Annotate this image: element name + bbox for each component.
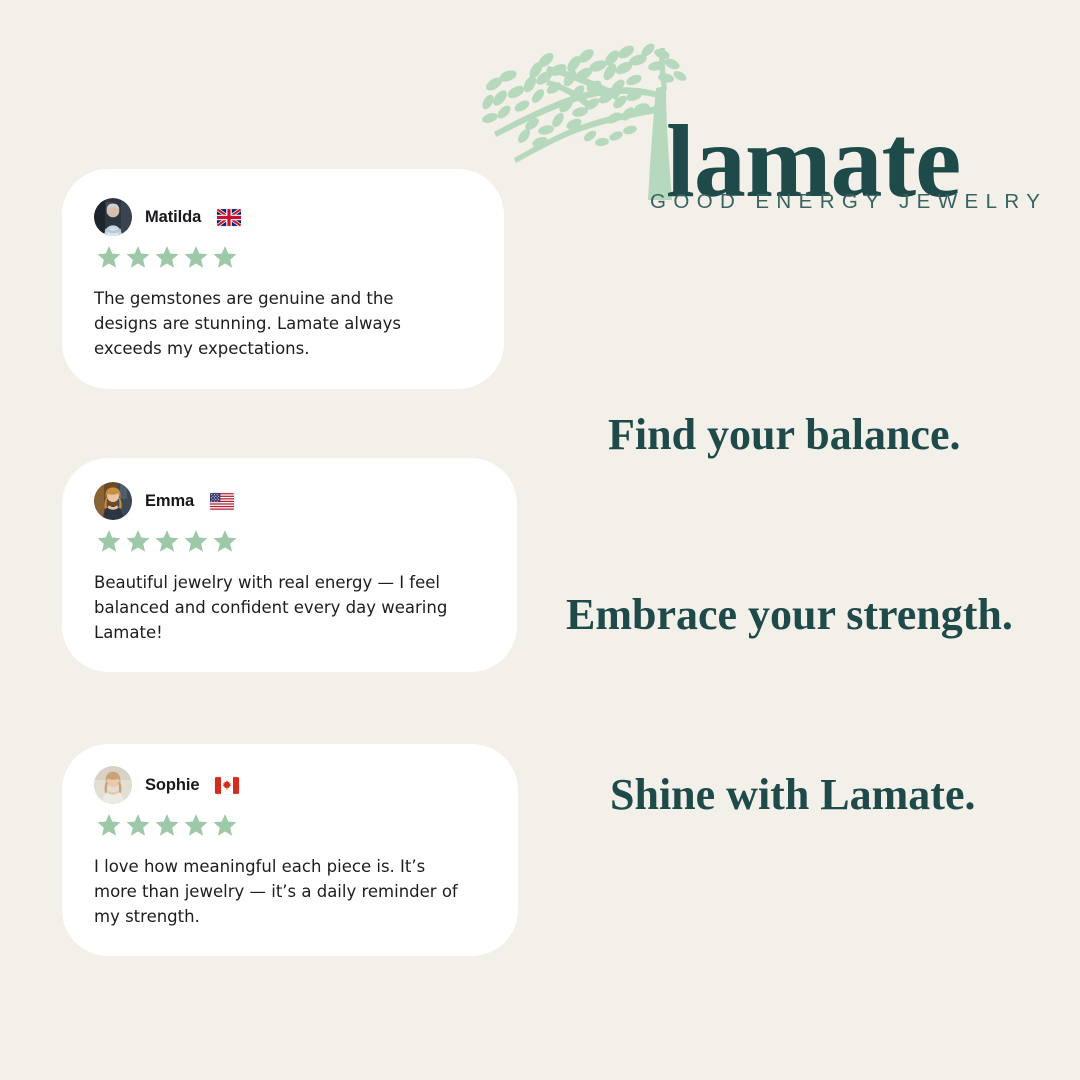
reviewer-name: Sophie [145, 776, 199, 795]
star-icon [183, 245, 209, 270]
tagline-embrace-your-strength: Embrace your strength. [566, 589, 1013, 640]
avatar [94, 766, 132, 804]
star-icon [212, 529, 238, 554]
review-header: Emma [94, 480, 485, 522]
flag-us-icon [210, 493, 234, 510]
review-card[interactable]: Emma [62, 458, 517, 672]
review-text: Beautiful jewelry with real energy — I f… [94, 570, 468, 645]
review-card[interactable]: Matilda The gemstones are genuine and th… [62, 169, 504, 389]
star-icon [154, 813, 180, 838]
promo-canvas: lamate GOOD ENERGY JEWELRY [0, 0, 1080, 1080]
brand-logo: lamate GOOD ENERGY JEWELRY [470, 40, 1040, 225]
review-header: Sophie [94, 764, 486, 806]
star-rating [96, 813, 486, 838]
star-icon [183, 529, 209, 554]
review-card[interactable]: Sophie I love how meaningful each piece … [62, 744, 518, 956]
star-icon [125, 245, 151, 270]
avatar [94, 198, 132, 236]
brand-tagline: GOOD ENERGY JEWELRY [650, 190, 1047, 214]
star-icon [183, 813, 209, 838]
star-icon [96, 245, 122, 270]
tagline-shine-with-lamate: Shine with Lamate. [610, 769, 975, 820]
tagline-find-your-balance: Find your balance. [608, 409, 960, 460]
avatar [94, 482, 132, 520]
star-icon [96, 529, 122, 554]
star-icon [125, 529, 151, 554]
review-text: I love how meaningful each piece is. It’… [94, 854, 472, 929]
reviewer-name: Matilda [145, 208, 201, 227]
tree-branch-icon [470, 40, 690, 200]
star-icon [212, 813, 238, 838]
star-icon [212, 245, 238, 270]
star-rating [96, 529, 485, 554]
reviewer-name: Emma [145, 492, 194, 511]
star-icon [125, 813, 151, 838]
review-text: The gemstones are genuine and the design… [94, 286, 454, 361]
review-header: Matilda [94, 196, 472, 238]
star-icon [96, 813, 122, 838]
star-icon [154, 529, 180, 554]
flag-uk-icon [217, 209, 241, 226]
flag-canada-icon [215, 777, 239, 794]
star-rating [96, 245, 472, 270]
star-icon [154, 245, 180, 270]
